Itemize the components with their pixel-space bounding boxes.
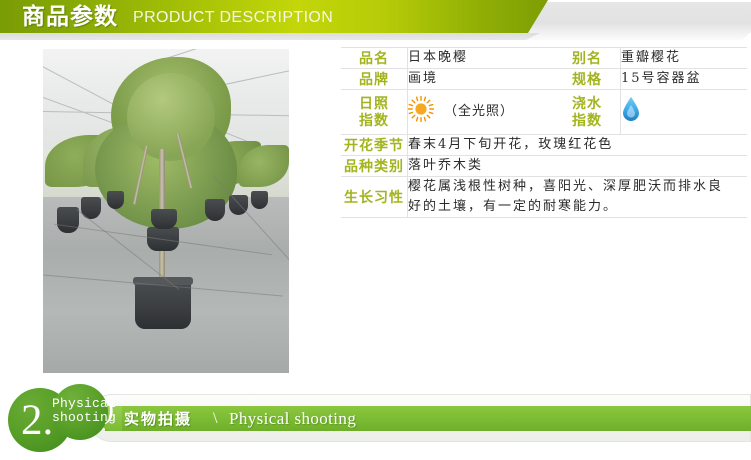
table-row: 品种类别 落叶乔木类 bbox=[341, 156, 747, 177]
spec-value-watering-index bbox=[621, 90, 748, 135]
spec-value-alias: 重瓣樱花 bbox=[621, 48, 748, 69]
section-number: 2. bbox=[21, 399, 53, 442]
spec-label-brand: 品牌 bbox=[341, 69, 408, 90]
section-badge-paren: ) bbox=[104, 394, 114, 424]
background-pot bbox=[251, 191, 268, 209]
background-pot bbox=[205, 199, 225, 221]
table-row: 生长习性 樱花属浅根性树种，喜阳光、深厚肥沃而排水良好的土壤，有一定的耐寒能力。 bbox=[341, 177, 747, 218]
spec-value-size: 15号容器盆 bbox=[621, 69, 748, 90]
page-header: 商品参数 PRODUCT DESCRIPTION bbox=[0, 0, 751, 44]
spec-label-alias: 别名 bbox=[554, 48, 621, 69]
spec-label-watering-line2: 指数 bbox=[554, 112, 620, 129]
background-pot bbox=[151, 209, 177, 229]
main-tree-canopy bbox=[127, 73, 215, 161]
spec-label-sunlight-index: 日照 指数 bbox=[341, 90, 408, 135]
page-title-cn: 商品参数 bbox=[22, 1, 118, 32]
header-green-underline bbox=[0, 33, 540, 40]
section-title-separator: \ bbox=[213, 407, 217, 431]
table-row: 日照 指数 bbox=[341, 90, 747, 135]
background-pot bbox=[107, 191, 124, 209]
spec-value-sunlight-index: （全光照） bbox=[408, 90, 555, 135]
table-row: 品名 日本晚樱 别名 重瓣樱花 bbox=[341, 48, 747, 69]
spec-value-brand: 画境 bbox=[408, 69, 555, 90]
spec-value-product-name: 日本晚樱 bbox=[408, 48, 555, 69]
water-drop-icon bbox=[621, 96, 641, 129]
section-title-cn: 实物拍摄 bbox=[124, 407, 192, 431]
spec-label-bloom-season: 开花季节 bbox=[341, 135, 408, 156]
table-row: 开花季节 春末4月下旬开花，玫瑰红花色 bbox=[341, 135, 747, 156]
product-spec-table: 品名 日本晚樱 别名 重瓣樱花 品牌 画境 规格 15号容器盆 日照 指数 bbox=[341, 47, 747, 218]
spec-value-growth-habit: 樱花属浅根性树种，喜阳光、深厚肥沃而排水良好的土壤，有一定的耐寒能力。 bbox=[408, 177, 748, 218]
spec-label-sunlight-line2: 指数 bbox=[341, 112, 407, 129]
spec-label-variety-type: 品种类别 bbox=[341, 156, 408, 177]
page-title-en: PRODUCT DESCRIPTION bbox=[133, 4, 333, 32]
main-pot bbox=[135, 281, 191, 329]
section-banner: 2. Physical shooting ) 实物拍摄 \ Physical s… bbox=[0, 382, 751, 460]
spec-label-product-name: 品名 bbox=[341, 48, 408, 69]
spec-label-sunlight-line1: 日照 bbox=[341, 95, 407, 112]
spec-label-watering-line1: 浇水 bbox=[554, 95, 620, 112]
section-title-en: Physical shooting bbox=[229, 406, 356, 432]
table-row: 品牌 画境 规格 15号容器盆 bbox=[341, 69, 747, 90]
spec-label-size: 规格 bbox=[554, 69, 621, 90]
spec-value-variety-type: 落叶乔木类 bbox=[408, 156, 748, 177]
spec-label-watering-index: 浇水 指数 bbox=[554, 90, 621, 135]
banner-green-bar bbox=[105, 406, 751, 431]
sun-icon bbox=[408, 96, 434, 129]
spec-value-bloom-season: 春末4月下旬开花，玫瑰红花色 bbox=[408, 135, 748, 156]
background-pot bbox=[57, 207, 79, 233]
spec-value-sunlight-note: （全光照） bbox=[444, 102, 514, 122]
spec-label-growth-habit: 生长习性 bbox=[341, 177, 408, 218]
product-photo bbox=[42, 48, 290, 374]
